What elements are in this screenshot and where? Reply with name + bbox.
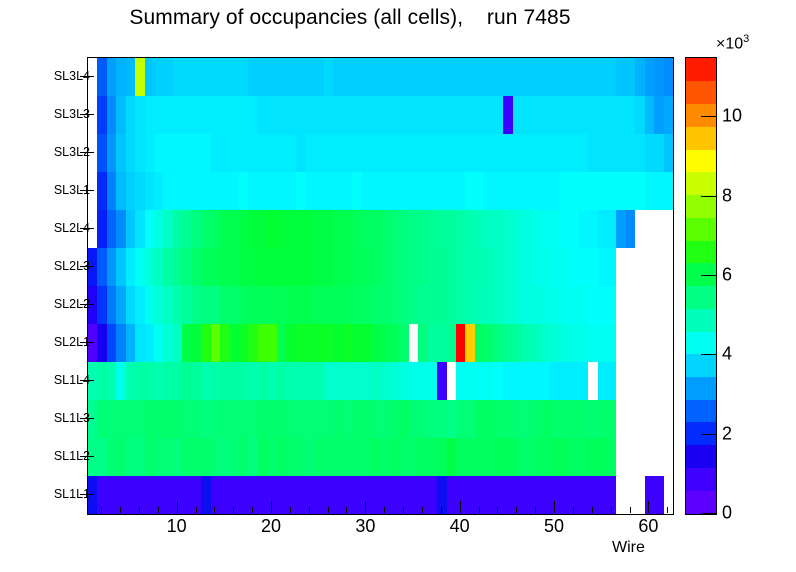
x-axis-major-tick <box>177 501 178 513</box>
color-bar-label: 8 <box>722 185 732 206</box>
color-bar-label: 4 <box>722 344 732 365</box>
x-axis-minor-tick <box>516 507 517 513</box>
color-bar-exponent-power: 3 <box>743 33 749 45</box>
heatmap-cells[interactable] <box>88 58 673 514</box>
color-bar-label: 10 <box>722 106 742 127</box>
color-bar-tick <box>701 196 716 197</box>
x-axis-minor-tick <box>592 507 593 513</box>
x-axis-label: 30 <box>355 516 375 537</box>
x-axis-minor-tick <box>158 507 159 513</box>
x-axis-minor-tick <box>667 507 668 513</box>
x-axis-minor-tick <box>120 507 121 513</box>
color-bar-tick <box>701 434 716 435</box>
color-bar-exponent-base: ×10 <box>716 35 743 52</box>
y-axis-tick <box>80 228 94 229</box>
x-axis-minor-tick <box>384 507 385 513</box>
x-axis-minor-tick <box>252 507 253 513</box>
color-bar-exponent: ×103 <box>716 33 749 53</box>
color-bar-tick <box>701 116 716 117</box>
y-axis-tick <box>80 380 94 381</box>
x-axis-major-tick <box>365 501 366 513</box>
x-axis-label: 60 <box>638 516 658 537</box>
y-axis-tick <box>80 76 94 77</box>
x-axis-major-tick <box>460 501 461 513</box>
x-axis-minor-tick <box>611 507 612 513</box>
y-axis-tick <box>80 152 94 153</box>
x-axis-minor-tick <box>214 507 215 513</box>
color-bar[interactable] <box>685 57 717 515</box>
x-axis-major-tick <box>271 501 272 513</box>
color-bar-label: 6 <box>722 265 732 286</box>
color-bar-gradient[interactable] <box>686 58 716 514</box>
heatmap-canvas[interactable] <box>88 58 673 514</box>
x-axis-minor-tick <box>290 507 291 513</box>
x-axis-minor-tick <box>630 507 631 513</box>
heatmap-plot-area[interactable] <box>87 57 674 515</box>
x-axis-minor-tick <box>309 507 310 513</box>
y-axis-tick <box>80 114 94 115</box>
x-axis-label: 50 <box>544 516 564 537</box>
x-axis-label: 10 <box>167 516 187 537</box>
y-axis-tick <box>80 304 94 305</box>
x-axis-major-tick <box>648 501 649 513</box>
x-axis-label: 40 <box>450 516 470 537</box>
page-title: Summary of occupancies (all cells), run … <box>0 6 700 30</box>
x-axis-minor-tick <box>535 507 536 513</box>
x-axis-minor-tick <box>233 507 234 513</box>
x-axis-title: Wire <box>612 539 645 557</box>
y-axis-tick <box>80 266 94 267</box>
x-axis-minor-tick <box>573 507 574 513</box>
x-axis-minor-tick <box>422 507 423 513</box>
x-axis-label: 20 <box>261 516 281 537</box>
root-canvas: Summary of occupancies (all cells), run … <box>0 0 796 572</box>
color-bar-label: 0 <box>722 503 732 524</box>
color-bar-tick <box>701 513 716 514</box>
x-axis-minor-tick <box>479 507 480 513</box>
x-axis-minor-tick <box>403 507 404 513</box>
y-axis-tick <box>80 456 94 457</box>
y-axis-tick <box>80 418 94 419</box>
x-axis-minor-tick <box>497 507 498 513</box>
y-axis-tick <box>80 190 94 191</box>
y-axis-tick <box>80 494 94 495</box>
color-bar-tick <box>701 354 716 355</box>
x-axis-minor-tick <box>346 507 347 513</box>
color-bar-label: 2 <box>722 423 732 444</box>
x-axis-minor-tick <box>196 507 197 513</box>
x-axis-minor-tick <box>139 507 140 513</box>
x-axis-minor-tick <box>441 507 442 513</box>
x-axis-minor-tick <box>101 507 102 513</box>
x-axis-major-tick <box>554 501 555 513</box>
y-axis-tick <box>80 342 94 343</box>
color-bar-tick <box>701 275 716 276</box>
x-axis-minor-tick <box>328 507 329 513</box>
